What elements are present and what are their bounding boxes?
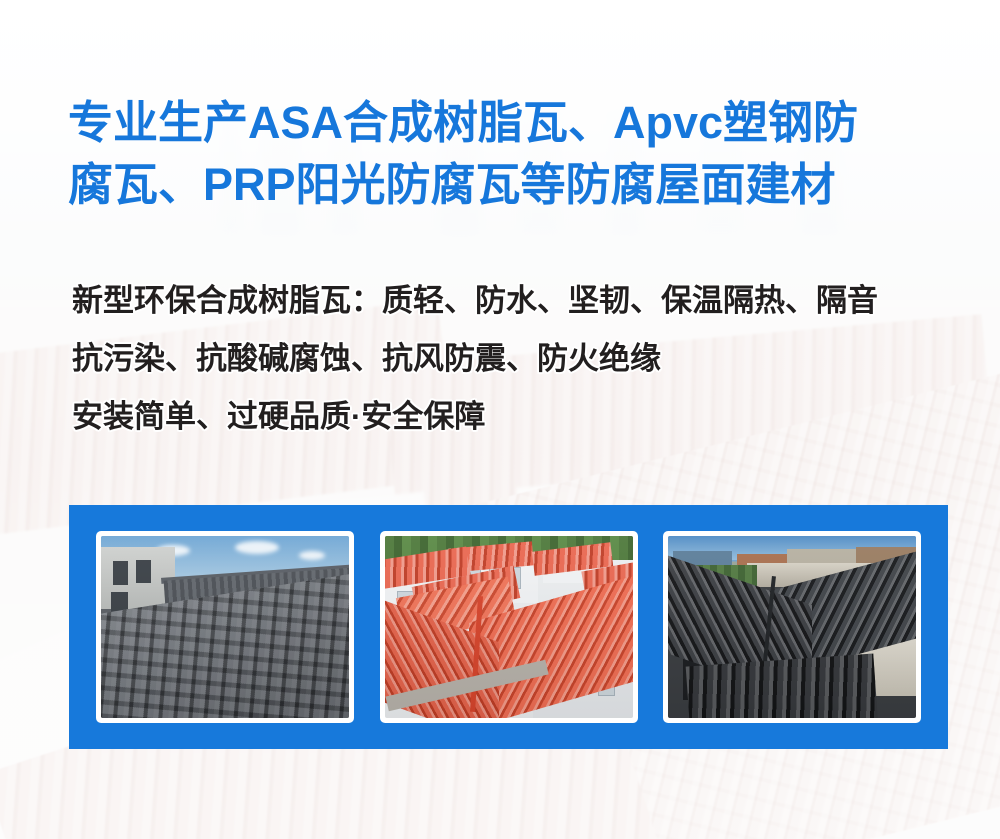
photo1-window bbox=[113, 561, 128, 585]
product-photo-1-frame[interactable] bbox=[96, 531, 354, 723]
product-photo-2-frame[interactable] bbox=[380, 531, 638, 723]
product-photo-gallery bbox=[69, 505, 948, 749]
photo1-cloud bbox=[299, 551, 325, 560]
banner-feature-list: 新型环保合成树脂瓦：质轻、防水、坚韧、保温隔热、隔音 抗污染、抗酸碱腐蚀、抗风防… bbox=[72, 272, 972, 446]
banner-headline: 专业生产ASA合成树脂瓦、Apvc塑钢防 腐瓦、PRP阳光防腐瓦等防腐屋面建材 bbox=[68, 92, 948, 216]
product-photo-red-resin-tile-roof-villas bbox=[385, 536, 633, 718]
headline-line-2: 腐瓦、PRP阳光防腐瓦等防腐屋面建材 bbox=[68, 154, 948, 216]
photo1-window bbox=[136, 560, 151, 584]
headline-line-1: 专业生产ASA合成树脂瓦、Apvc塑钢防 bbox=[68, 92, 948, 154]
product-photo-black-resin-tile-roof-village bbox=[668, 536, 916, 718]
product-banner: 专业生产ASA合成树脂瓦、Apvc塑钢防 腐瓦、PRP阳光防腐瓦等防腐屋面建材 … bbox=[0, 0, 1000, 839]
feature-line-3: 安装简单、过硬品质·安全保障 bbox=[72, 388, 972, 446]
feature-line-2: 抗污染、抗酸碱腐蚀、抗风防震、防火绝缘 bbox=[72, 330, 972, 388]
product-photo-3-frame[interactable] bbox=[663, 531, 921, 723]
feature-line-1: 新型环保合成树脂瓦：质轻、防水、坚韧、保温隔热、隔音 bbox=[72, 272, 972, 330]
product-photo-dark-grey-resin-tile-roof-closeup bbox=[101, 536, 349, 718]
